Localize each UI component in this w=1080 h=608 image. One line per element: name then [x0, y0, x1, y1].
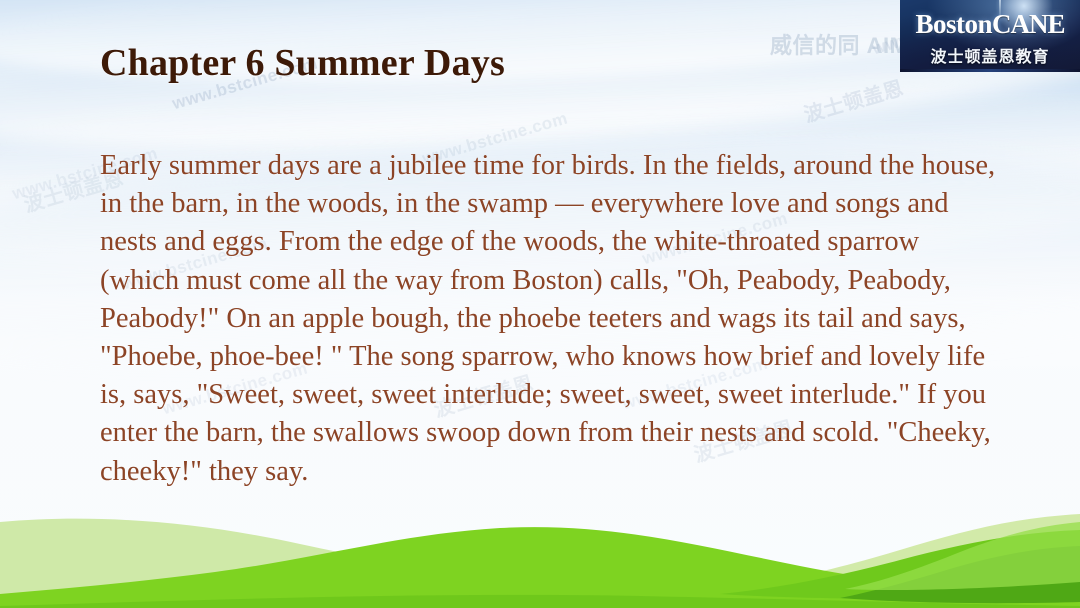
brand-logo[interactable]: BostonCANE 波士顿盖恩教育 [900, 0, 1080, 72]
hills-illustration [0, 488, 1080, 608]
slide-canvas: www.bstcine.com www.bstcine.com www.bstc… [0, 0, 1080, 608]
body-paragraph: Early summer days are a jubilee time for… [100, 147, 1000, 491]
logo-underline [900, 69, 1080, 72]
logo-brand-text: BostonCANE [900, 10, 1080, 39]
logo-brand-accent: CANE [992, 9, 1065, 39]
logo-brand-main: Boston [915, 9, 992, 39]
page-title: Chapter 6 Summer Days [100, 41, 505, 85]
logo-brand-cn: 波士顿盖恩教育 [900, 43, 1080, 67]
